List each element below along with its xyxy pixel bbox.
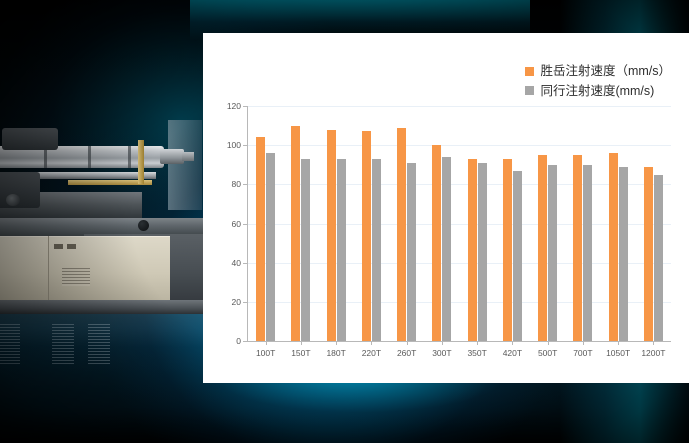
bar-series-0 [327,130,336,342]
legend-swatch-icon [525,67,534,76]
bar-series-1 [301,159,310,341]
x-axis-tick [477,341,478,345]
y-axis-tick-label: 60 [232,219,241,229]
bar-group [636,106,671,341]
x-axis-tick-label: 420T [495,348,530,358]
x-axis-tick [548,341,549,345]
bar-series-0 [573,155,582,341]
x-axis-tick-label: 300T [424,348,459,358]
x-axis-tick-label: 260T [389,348,424,358]
x-axis-tick-label: 220T [354,348,389,358]
y-axis-tick-label: 100 [227,140,241,150]
bar-series-1 [583,165,592,341]
x-axis-tick-label: 1200T [636,348,671,358]
x-axis-tick-label: 1050T [601,348,636,358]
x-axis-tick [653,341,654,345]
bar-group [248,106,283,341]
bar-series-0 [644,167,653,341]
x-axis-tick-label: 350T [460,348,495,358]
bar-groups [248,106,671,341]
bar-series-0 [256,137,265,341]
plot-area: 020406080100120 100T150T180T220T260T300T… [247,106,671,374]
x-axis-tick [371,341,372,345]
x-axis-tick-label: 500T [530,348,565,358]
x-axis-tick [266,341,267,345]
bar-series-1 [619,167,628,341]
x-axis-tick-label: 100T [248,348,283,358]
x-axis-tick [407,341,408,345]
x-axis-tick-label: 180T [319,348,354,358]
bar-series-0 [503,159,512,341]
x-axis-tick [618,341,619,345]
x-axis-tick-label: 700T [565,348,600,358]
bar-series-1 [442,157,451,341]
legend-item-series-1: 同行注射速度(mm/s) [525,85,671,98]
x-axis-line [247,341,671,342]
bar-series-1 [337,159,346,341]
bar-group [601,106,636,341]
y-axis-tick-label: 40 [232,258,241,268]
chart-legend: 胜岳注射速度（mm/s） 同行注射速度(mm/s) [525,65,671,104]
bar-series-0 [538,155,547,341]
bar-series-1 [266,153,275,341]
bar-series-0 [362,131,371,341]
bar-group [495,106,530,341]
y-axis-tick-label: 80 [232,179,241,189]
y-axis-tick-label: 120 [227,101,241,111]
legend-item-series-0: 胜岳注射速度（mm/s） [525,65,671,78]
bar-series-1 [548,165,557,341]
bar-series-1 [654,175,663,341]
bar-series-1 [478,163,487,341]
bar-group [424,106,459,341]
x-axis-tick [336,341,337,345]
bar-group [283,106,318,341]
chart-panel: 胜岳注射速度（mm/s） 同行注射速度(mm/s) 02040608010012… [203,33,689,383]
legend-swatch-icon [525,86,534,95]
bar-group [530,106,565,341]
slide-canvas: 胜岳注射速度（mm/s） 同行注射速度(mm/s) 02040608010012… [0,0,689,443]
bar-group [319,106,354,341]
bar-series-0 [609,153,618,341]
bar-series-1 [372,159,381,341]
bar-series-0 [397,128,406,341]
legend-label: 胜岳注射速度（mm/s） [540,65,671,78]
x-axis-tick [512,341,513,345]
y-axis-tick-label: 20 [232,297,241,307]
bar-group [389,106,424,341]
bar-series-0 [291,126,300,341]
y-axis-tick-label: 0 [236,336,241,346]
legend-label: 同行注射速度(mm/s) [540,85,654,98]
x-axis-tick [442,341,443,345]
axis-area: 020406080100120 [247,106,671,341]
x-axis-tick [301,341,302,345]
bar-group [354,106,389,341]
bar-series-0 [432,145,441,341]
bar-series-0 [468,159,477,341]
bar-group [565,106,600,341]
x-axis-labels: 100T150T180T220T260T300T350T420T500T700T… [248,348,671,358]
bar-series-1 [513,171,522,341]
bar-series-1 [407,163,416,341]
bar-group [460,106,495,341]
x-axis-tick [583,341,584,345]
x-axis-tick-label: 150T [283,348,318,358]
